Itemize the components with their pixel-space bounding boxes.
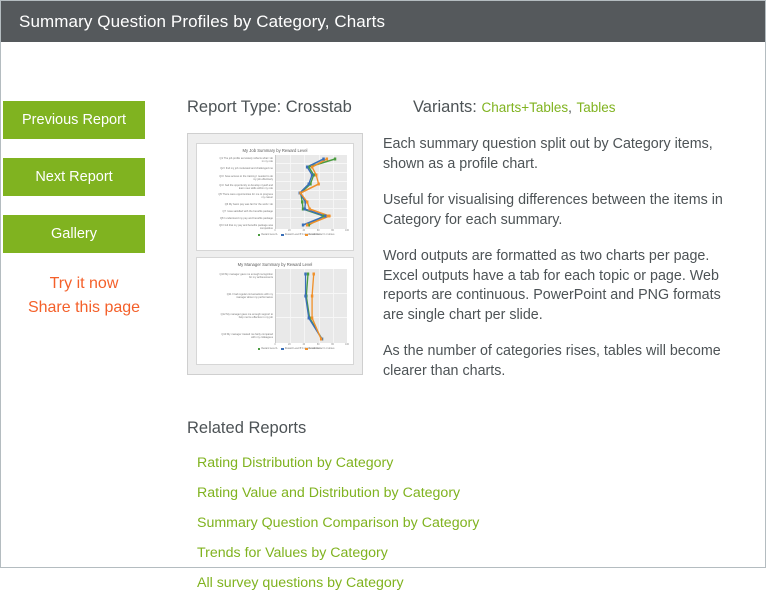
legend-item: Reward Level C or above — [305, 234, 334, 237]
mini-chart-1-series — [276, 155, 354, 229]
main-content: Report Type: Crosstab Variants: Charts+T… — [187, 42, 765, 604]
variants-label: Variants: — [413, 98, 477, 116]
sidebar: Previous Report Next Report Gallery Try … — [1, 42, 187, 317]
variants-block: Variants: Charts+Tables, Tables — [413, 98, 616, 117]
list-item: Rating Value and Distribution by Categor… — [197, 484, 753, 502]
mini-cat-label: Q7 I was satisfied with the benefits pac… — [217, 210, 273, 213]
mini-xtick: 40 — [302, 229, 305, 232]
next-report-button[interactable]: Next Report — [3, 158, 145, 196]
report-meta-row: Report Type: Crosstab Variants: Charts+T… — [187, 98, 753, 117]
body-wrapper: Previous Report Next Report Gallery Try … — [1, 42, 765, 604]
mini-cat-label: Q6 My basic pay was fair for the work I … — [217, 203, 273, 206]
mini-cat-label: Q2 I find my job motivated and challenge… — [217, 167, 273, 170]
mini-chart-2: Q10 My manager gave me enough recognitio… — [201, 269, 349, 351]
page-container: Summary Question Profiles by Category, C… — [0, 0, 766, 568]
legend-item: Reward Level B — [281, 348, 301, 351]
thumbnail-page-1: My Job Summary by Reward Level Q1 The jo… — [196, 143, 354, 251]
mini-xtick: 100 — [345, 343, 349, 346]
mini-chart-title-2: My Manager Summary by Reward Level — [201, 262, 349, 268]
related-reports-list: Rating Distribution by Category Rating V… — [187, 454, 753, 592]
report-type-label: Report Type: Crosstab — [187, 98, 413, 117]
mini-xtick: 40 — [302, 343, 305, 346]
list-item: Summary Question Comparison by Category — [197, 514, 753, 532]
mini-cat-label: Q13 My manager treated me fairly compare… — [217, 333, 273, 339]
mini-chart-2-series — [276, 269, 354, 343]
variants-separator: , — [568, 100, 572, 115]
related-reports-section: Related Reports Rating Distribution by C… — [187, 419, 753, 592]
legend-item: Reward Level B — [281, 234, 301, 237]
mini-xtick: 100 — [345, 229, 349, 232]
mini-xtick: 60 — [317, 229, 320, 232]
description-paragraph: As the number of categories rises, table… — [383, 342, 743, 381]
mini-chart-2-labels: Q10 My manager gave me enough recognitio… — [201, 269, 275, 343]
related-link-rating-value-distribution[interactable]: Rating Value and Distribution by Categor… — [197, 485, 460, 501]
mini-cat-label: Q4 I had the opportunity to develop myse… — [217, 184, 273, 190]
mini-chart-2-legend: Reward Level A Reward Level B Reward Lev… — [245, 348, 347, 351]
list-item: Rating Distribution by Category — [197, 454, 753, 472]
gallery-button[interactable]: Gallery — [3, 215, 145, 253]
variant-link-tables[interactable]: Tables — [577, 100, 616, 115]
related-link-summary-question-comparison[interactable]: Summary Question Comparison by Category — [197, 515, 479, 531]
related-reports-title: Related Reports — [187, 419, 753, 438]
mini-chart-1-plot — [275, 155, 347, 229]
legend-label: Reward Level C or above — [309, 348, 335, 350]
variant-link-charts-tables[interactable]: Charts+Tables — [481, 100, 568, 115]
content-columns: My Job Summary by Reward Level Q1 The jo… — [187, 133, 753, 381]
thumbnail-page-2: My Manager Summary by Reward Level Q10 M… — [196, 257, 354, 365]
description-block: Each summary question split out by Categ… — [383, 133, 753, 381]
related-link-all-survey-questions[interactable]: All survey questions by Category — [197, 575, 404, 591]
try-it-now-link[interactable]: Try it now — [1, 275, 167, 293]
mini-xtick: 80 — [331, 343, 334, 346]
mini-xtick: 20 — [288, 343, 291, 346]
page-title: Summary Question Profiles by Category, C… — [19, 12, 385, 32]
legend-label: Reward Level C or above — [309, 234, 335, 236]
report-preview-thumbnail[interactable]: My Job Summary by Reward Level Q1 The jo… — [187, 133, 363, 375]
share-this-page-link[interactable]: Share this page — [1, 299, 167, 317]
mini-cat-label: Q3 I have access to the training I neede… — [217, 175, 273, 181]
legend-label: Reward Level A — [261, 234, 277, 236]
legend-item: Reward Level A — [258, 348, 278, 351]
previous-report-button[interactable]: Previous Report — [3, 101, 145, 139]
legend-item: Reward Level A — [258, 234, 278, 237]
mini-chart-1-labels: Q1 The job profile accurately reflects w… — [201, 155, 275, 229]
description-paragraph: Word outputs are formatted as two charts… — [383, 247, 743, 325]
list-item: All survey questions by Category — [197, 574, 753, 592]
legend-label: Reward Level B — [285, 348, 301, 350]
mini-xtick: 0 — [274, 229, 275, 232]
mini-cat-label: Q12 My manager gave me enough support to… — [217, 313, 273, 319]
mini-chart-1-legend: Reward Level A Reward Level B Reward Lev… — [245, 234, 347, 237]
mini-cat-label: Q11 I had regular conversations with my … — [217, 293, 273, 299]
mini-xtick: 0 — [274, 343, 275, 346]
mini-cat-label: Q10 My manager gave me enough recognitio… — [217, 273, 273, 279]
mini-xtick: 80 — [331, 229, 334, 232]
legend-item: Reward Level C or above — [305, 348, 334, 351]
mini-chart-2-plot — [275, 269, 347, 343]
list-item: Trends for Values by Category — [197, 544, 753, 562]
mini-cat-label: Q5 There were opportunities for me to pr… — [217, 193, 273, 199]
description-paragraph: Each summary question split out by Categ… — [383, 135, 743, 174]
mini-cat-label: Q1 The job profile accurately reflects w… — [217, 157, 273, 163]
related-link-rating-distribution[interactable]: Rating Distribution by Category — [197, 455, 393, 471]
related-link-trends-for-values[interactable]: Trends for Values by Category — [197, 545, 388, 561]
mini-xtick: 60 — [317, 343, 320, 346]
legend-label: Reward Level A — [261, 348, 277, 350]
description-paragraph: Useful for visualising differences betwe… — [383, 191, 743, 230]
mini-xtick: 20 — [288, 229, 291, 232]
mini-cat-label: Q8 I understood my pay and benefits pack… — [217, 217, 273, 220]
mini-cat-label: Q9 I felt that my pay and benefits packa… — [217, 224, 273, 230]
mini-chart-title-1: My Job Summary by Reward Level — [201, 148, 349, 154]
page-header: Summary Question Profiles by Category, C… — [1, 1, 765, 42]
mini-chart-1: Q1 The job profile accurately reflects w… — [201, 155, 349, 237]
legend-label: Reward Level B — [285, 234, 301, 236]
